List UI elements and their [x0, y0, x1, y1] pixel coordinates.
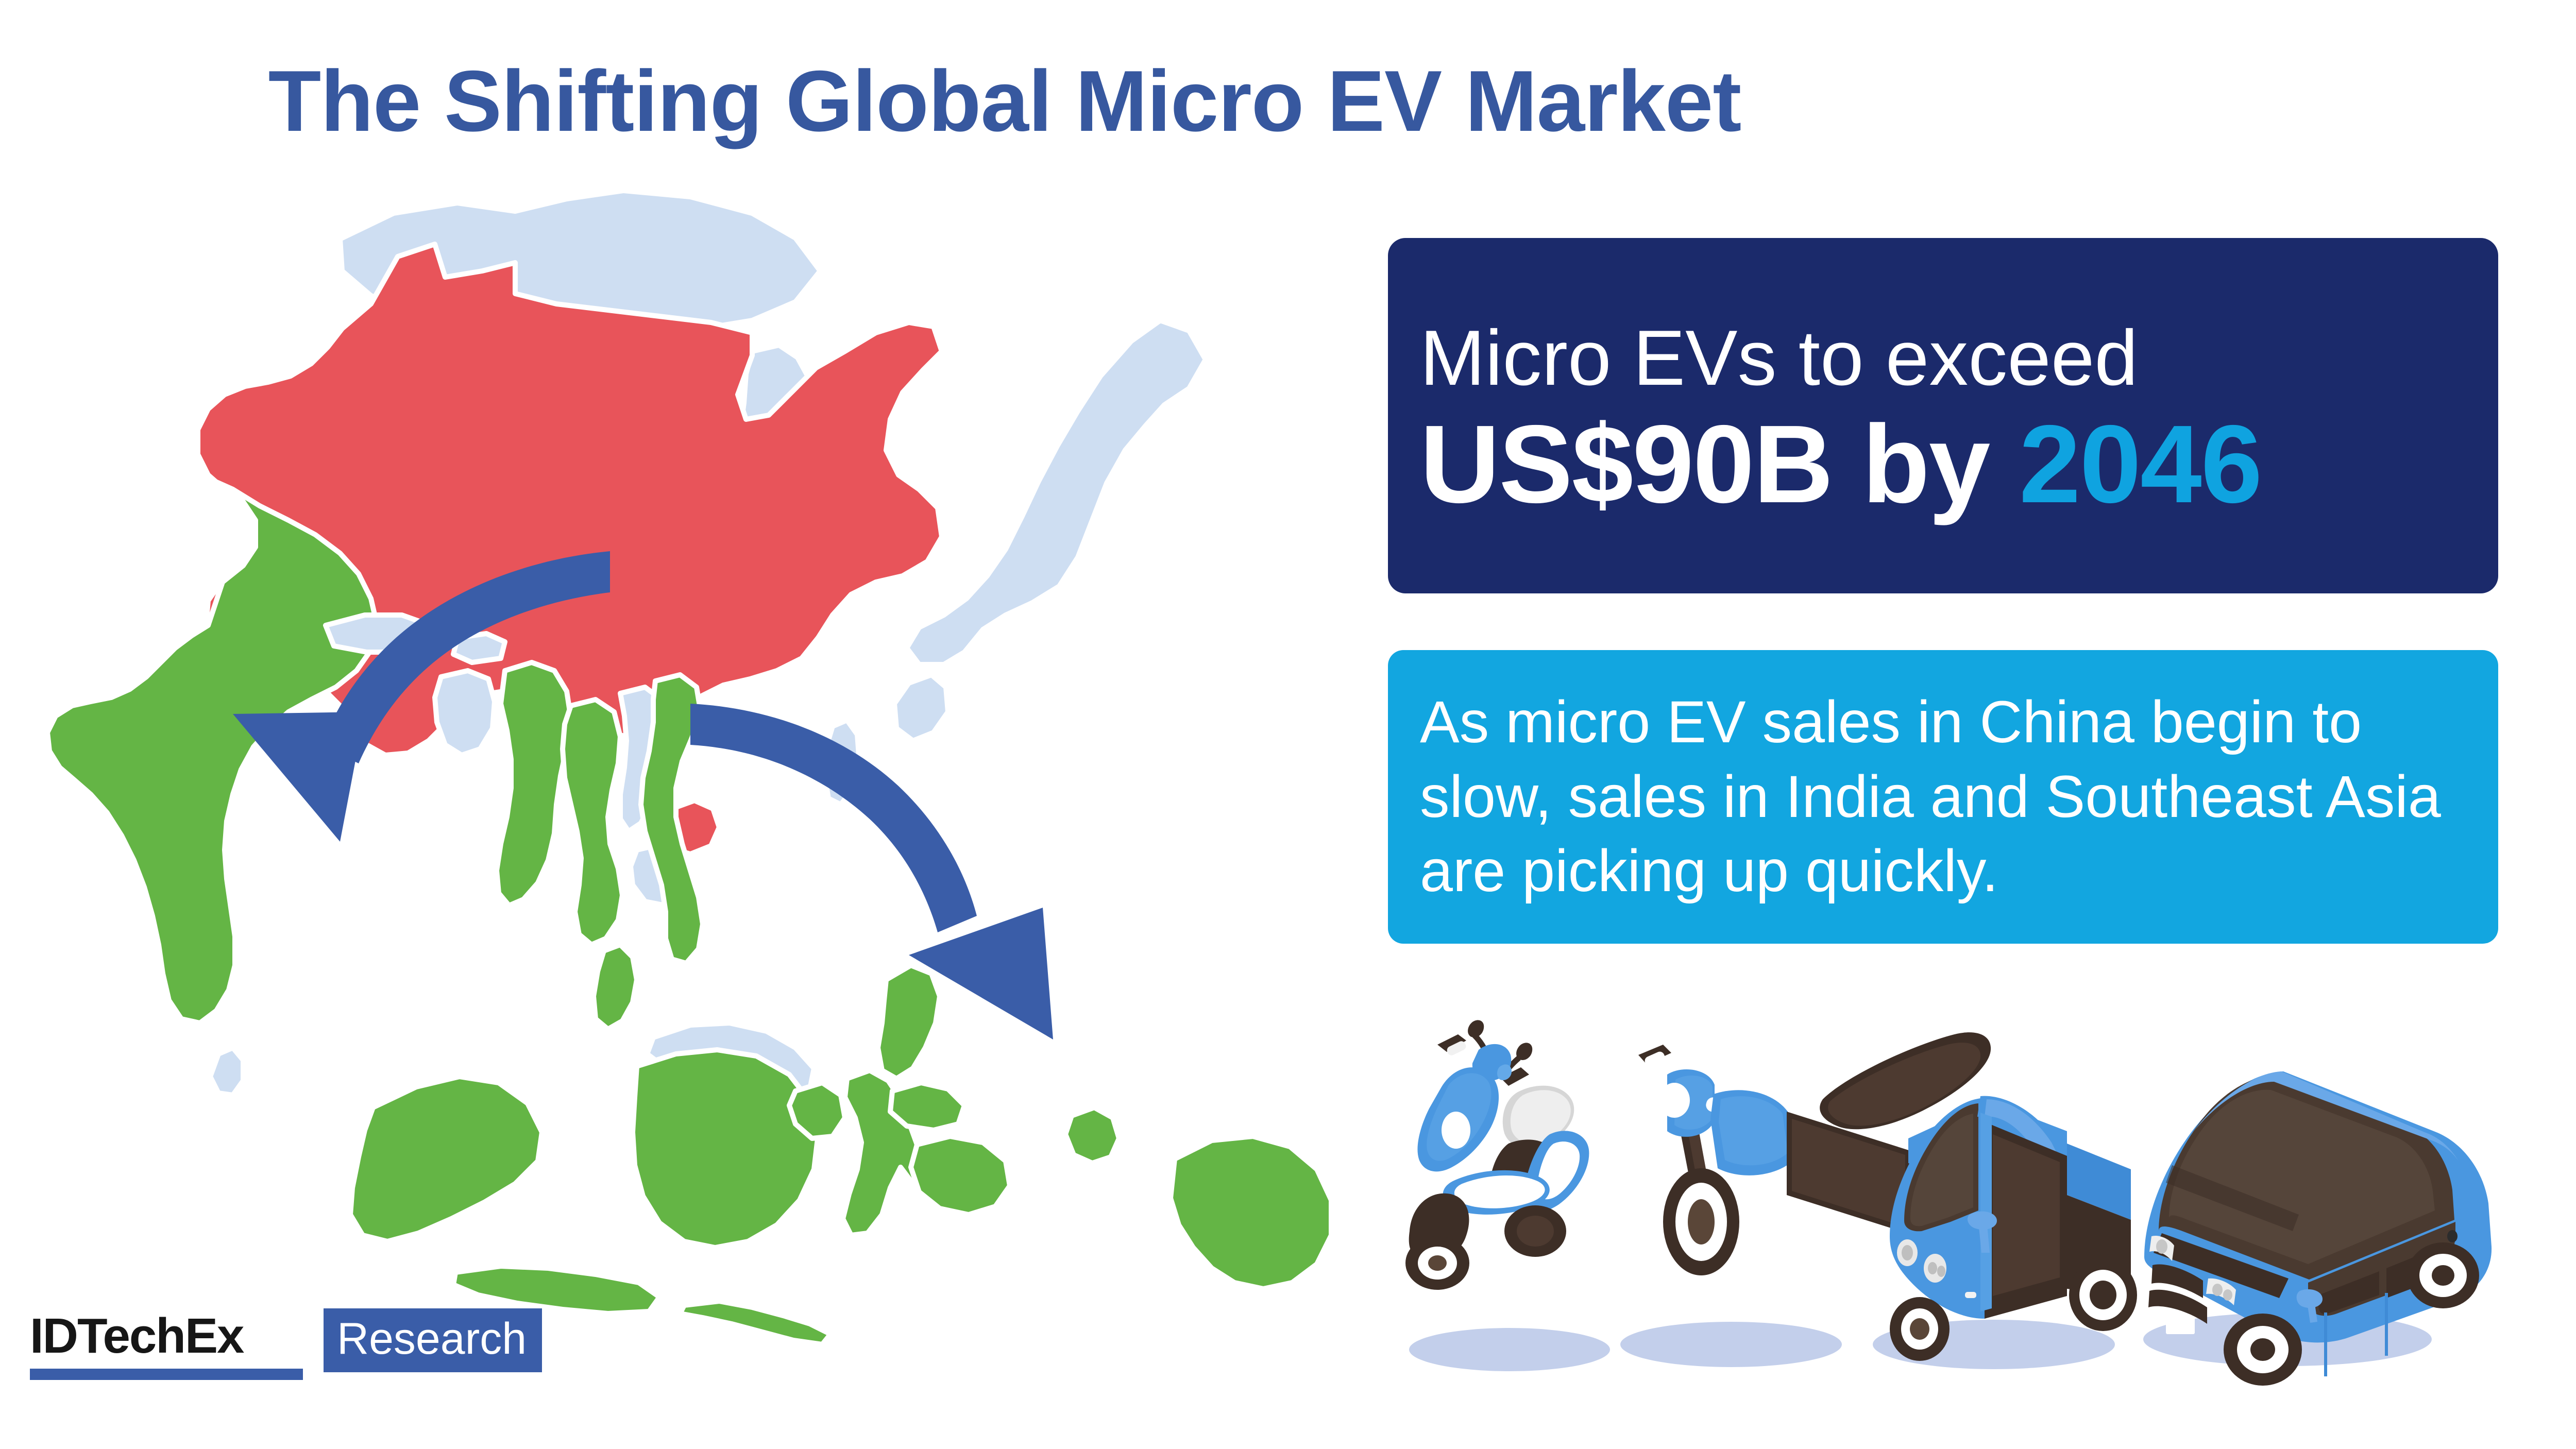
country-indonesia-halmahera [1065, 1107, 1119, 1163]
headline-line-1: Micro EVs to exceed [1420, 319, 2466, 397]
asia-map [31, 149, 1350, 1350]
logo-underline-bar [30, 1369, 303, 1380]
scooter-headlight [1442, 1112, 1470, 1149]
vehicle-illustrations [1381, 989, 2566, 1391]
country-indonesia-borneo [633, 1050, 818, 1248]
subtext-body: As micro EV sales in China begin to slow… [1420, 685, 2466, 909]
headline-year: 2046 [2019, 402, 2261, 526]
country-malay-peninsula [594, 945, 637, 1029]
shadow-motorbike [1620, 1322, 1842, 1367]
asia-map-svg [31, 149, 1350, 1350]
logo-research-badge: Research [324, 1308, 542, 1372]
idtechex-research-logo: IDTechEx Research [30, 1311, 545, 1407]
headline-panel: Micro EVs to exceed US$90B by 2046 [1388, 238, 2498, 593]
shadow-scooter [1409, 1328, 1610, 1371]
headline-value: US$90B by [1420, 402, 2019, 526]
page-title: The Shifting Global Micro EV Market [0, 52, 2009, 151]
country-bangladesh [435, 671, 495, 755]
motorbike-headlight [1659, 1083, 1690, 1118]
country-indonesia-lesser-sunda [680, 1301, 831, 1344]
country-sri-lanka [210, 1048, 243, 1095]
vehicles-svg [1381, 989, 2566, 1391]
logo-brand-text: IDTechEx [30, 1311, 243, 1361]
country-philippines-luzon [878, 965, 940, 1079]
country-philippines-mid [890, 1083, 964, 1130]
headline-line-2: US$90B by 2046 [1420, 408, 2466, 519]
logo-brand-block: IDTechEx [30, 1311, 303, 1380]
country-papua [1171, 1136, 1331, 1289]
country-japan [907, 320, 1206, 664]
country-philippines-mindanao [911, 1136, 1010, 1215]
logo-research-text: Research [337, 1316, 527, 1362]
electric-scooter [1405, 1020, 1589, 1290]
country-japan-kyushu [894, 675, 948, 741]
arrow-to-southeast-asia [690, 704, 1053, 1039]
country-myanmar [497, 662, 571, 906]
country-indonesia-sumatra [350, 1077, 542, 1241]
country-thailand [563, 700, 622, 945]
country-indonesia-java [453, 1266, 659, 1314]
infographic-canvas: The Shifting Global Micro EV Market [0, 0, 2576, 1449]
subtext-panel: As micro EV sales in China begin to slow… [1388, 650, 2498, 944]
